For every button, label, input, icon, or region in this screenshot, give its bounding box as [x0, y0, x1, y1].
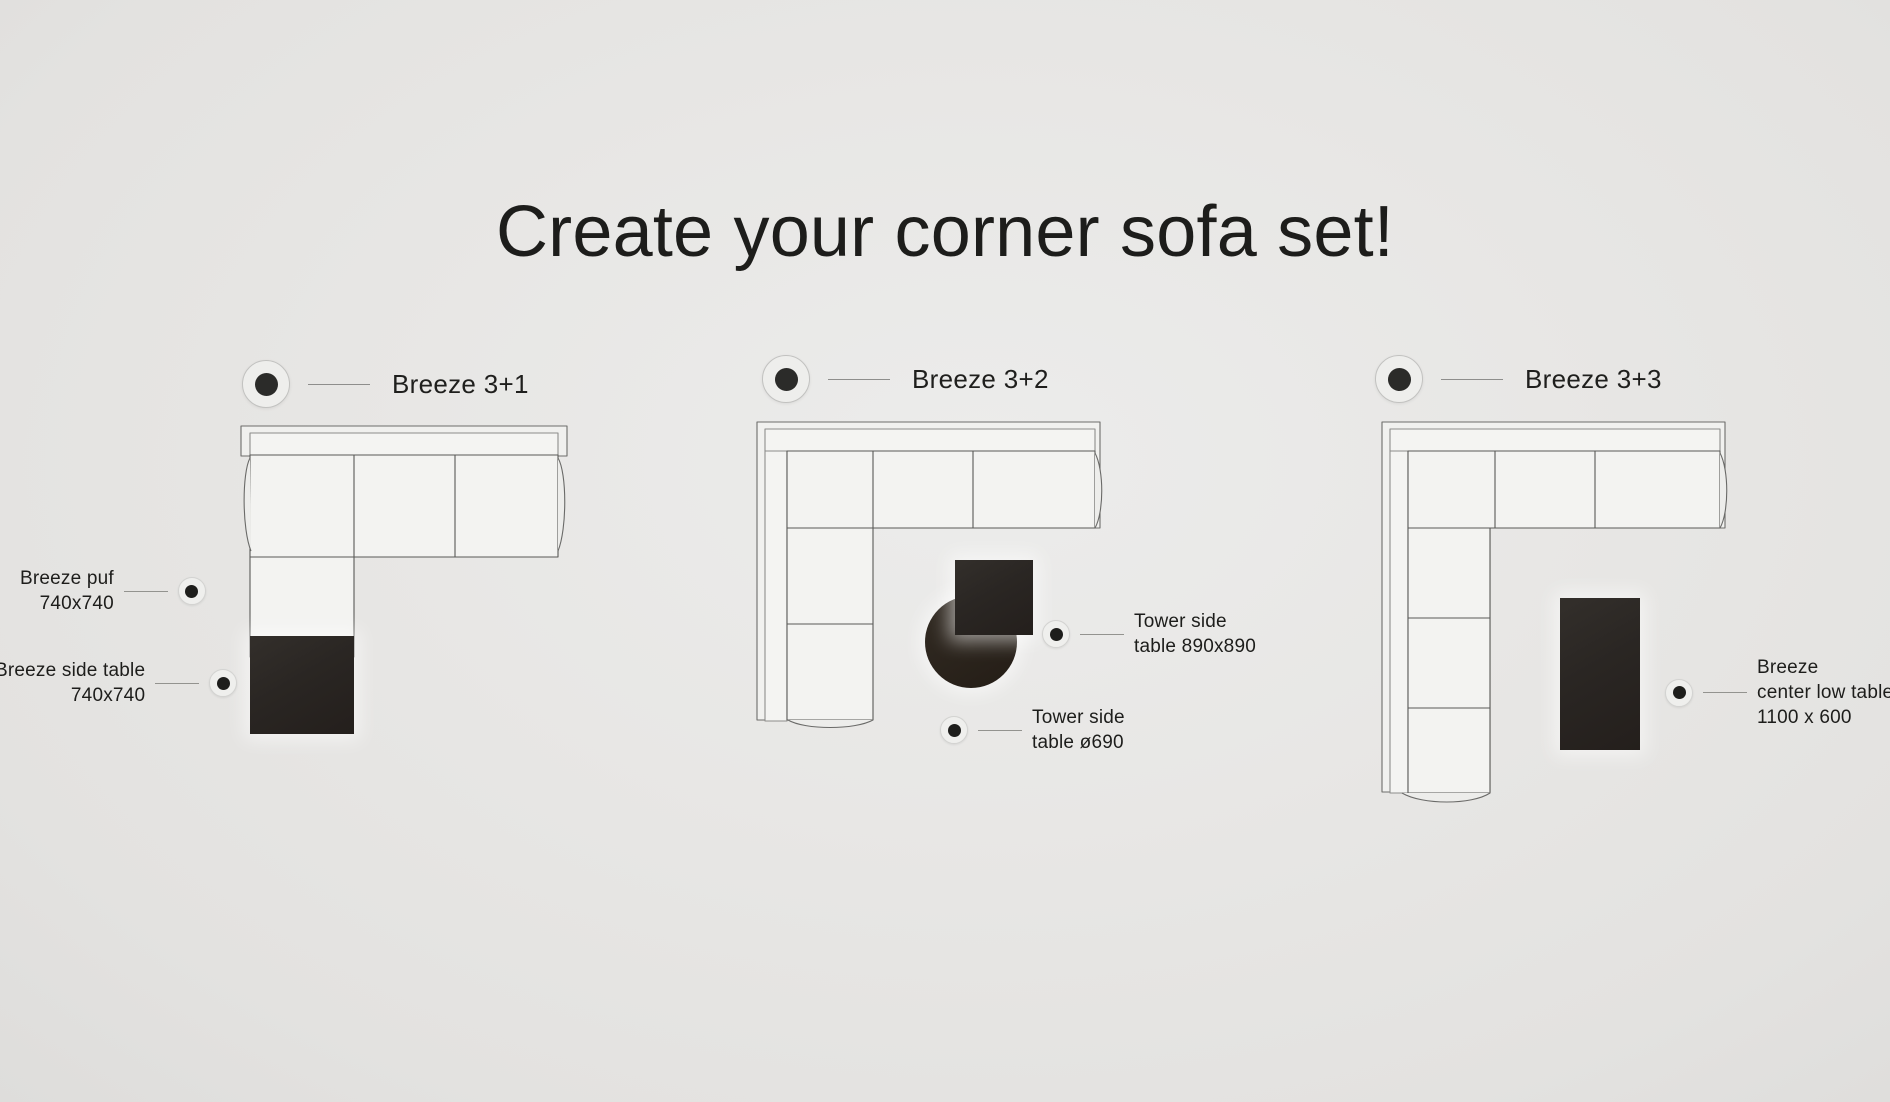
annotation-dot-icon[interactable]: [1665, 679, 1693, 707]
annotation-breeze-side-table[interactable]: Breeze side table 740x740: [0, 658, 237, 708]
option-header-breeze-3-3[interactable]: Breeze 3+3: [1375, 355, 1662, 403]
option-label-breeze-3-2: Breeze 3+2: [912, 364, 1049, 395]
annotation-text: Tower side table ø690: [1032, 705, 1125, 755]
radio-selected-icon[interactable]: [762, 355, 810, 403]
radio-selected-icon[interactable]: [1375, 355, 1423, 403]
annotation-dot-core: [185, 585, 198, 598]
leader-line: [308, 384, 370, 385]
option-label-breeze-3-3: Breeze 3+3: [1525, 364, 1662, 395]
annotation-text: Breeze puf 740x740: [20, 566, 114, 616]
leader-line: [1441, 379, 1503, 380]
annotation-dot-core: [948, 724, 961, 737]
page-title: Create your corner sofa set!: [0, 196, 1890, 268]
annotation-line-1: Breeze puf: [20, 566, 114, 591]
tower-side-table-square-block[interactable]: [955, 560, 1033, 635]
breeze-side-table-block[interactable]: [250, 636, 354, 734]
annotation-dot-icon[interactable]: [178, 577, 206, 605]
radio-dot: [255, 373, 278, 396]
leader-line: [978, 730, 1022, 731]
annotation-dot-core: [1050, 628, 1063, 641]
option-header-breeze-3-2[interactable]: Breeze 3+2: [762, 355, 1049, 403]
annotation-breeze-puf[interactable]: Breeze puf 740x740: [20, 566, 206, 616]
annotation-line-2: 740x740: [0, 683, 145, 708]
sofa-configurator-canvas: Create your corner sofa set! Breeze 3+1: [0, 0, 1890, 1102]
leader-line: [155, 683, 199, 684]
sofa-plan-breeze-3-3: [1380, 420, 1730, 835]
radio-dot: [775, 368, 798, 391]
annotation-line-1: Tower side: [1134, 609, 1256, 634]
annotation-dot-icon[interactable]: [1042, 620, 1070, 648]
annotation-line-1: Breeze side table: [0, 658, 145, 683]
breeze-center-low-table-block[interactable]: [1560, 598, 1640, 750]
annotation-dot-icon[interactable]: [940, 716, 968, 744]
annotation-line-1: Breeze: [1757, 655, 1890, 680]
annotation-breeze-center-low-table[interactable]: Breeze center low table 1100 x 600: [1665, 655, 1890, 730]
option-header-breeze-3-1[interactable]: Breeze 3+1: [242, 360, 529, 408]
annotation-dot-core: [1673, 686, 1686, 699]
annotation-dot-icon[interactable]: [209, 669, 237, 697]
annotation-line-1: Tower side: [1032, 705, 1125, 730]
annotation-line-2: center low table: [1757, 680, 1890, 705]
leader-line: [124, 591, 168, 592]
annotation-tower-side-table-square[interactable]: Tower side table 890x890: [1042, 609, 1256, 659]
leader-line: [828, 379, 890, 380]
annotation-line-2: 740x740: [20, 591, 114, 616]
annotation-text: Breeze side table 740x740: [0, 658, 145, 708]
radio-dot: [1388, 368, 1411, 391]
leader-line: [1080, 634, 1124, 635]
annotation-line-2: table 890x890: [1134, 634, 1256, 659]
annotation-text: Breeze center low table 1100 x 600: [1757, 655, 1890, 730]
annotation-tower-side-table-round[interactable]: Tower side table ø690: [940, 705, 1125, 755]
annotation-text: Tower side table 890x890: [1134, 609, 1256, 659]
annotation-line-2: table ø690: [1032, 730, 1125, 755]
annotation-dot-core: [217, 677, 230, 690]
annotation-line-3: 1100 x 600: [1757, 705, 1890, 730]
option-label-breeze-3-1: Breeze 3+1: [392, 369, 529, 400]
radio-selected-icon[interactable]: [242, 360, 290, 408]
leader-line: [1703, 692, 1747, 693]
